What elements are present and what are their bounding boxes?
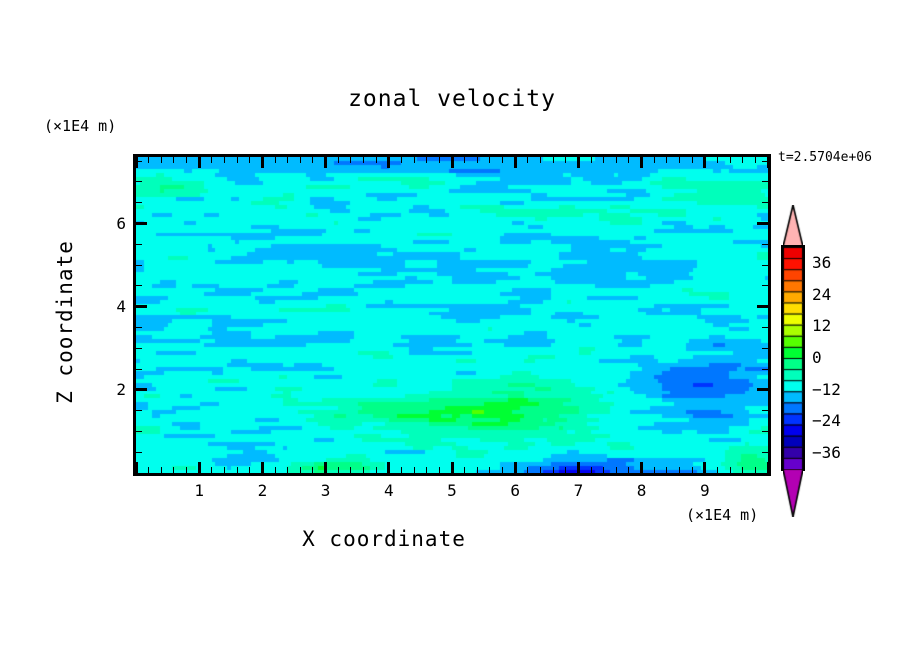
- tick-mark: [477, 157, 478, 163]
- tick-mark: [762, 181, 768, 182]
- tick-mark: [603, 157, 604, 163]
- tick-mark: [136, 452, 142, 453]
- tick-mark: [136, 348, 142, 349]
- tick-mark: [350, 467, 351, 473]
- tick-mark: [762, 202, 768, 203]
- tick-mark: [275, 157, 276, 163]
- tick-mark: [767, 157, 770, 168]
- tick-mark: [502, 157, 503, 163]
- tick-mark: [136, 222, 147, 225]
- tick-mark: [527, 467, 528, 473]
- tick-mark: [148, 467, 149, 473]
- tick-mark: [224, 467, 225, 473]
- tick-mark: [762, 452, 768, 453]
- colorbar-tick-label: −24: [812, 411, 841, 430]
- x-tick-label: 1: [187, 481, 211, 500]
- tick-mark: [136, 265, 142, 266]
- tick-mark: [211, 157, 212, 163]
- colorbar-under-arrow: [783, 469, 803, 517]
- tick-mark: [757, 222, 768, 225]
- y-tick-label: 4: [102, 297, 126, 316]
- tick-mark: [161, 467, 162, 473]
- tick-mark: [717, 157, 718, 163]
- tick-mark: [767, 462, 770, 473]
- contour-figure: zonal velocity (×1E4 m) (×1E4 m) t=2.570…: [0, 0, 904, 654]
- tick-mark: [762, 348, 768, 349]
- tick-mark: [757, 305, 768, 308]
- tick-mark: [616, 467, 617, 473]
- tick-mark: [387, 462, 390, 473]
- x-tick-label: 3: [314, 481, 338, 500]
- tick-mark: [312, 157, 313, 163]
- tick-mark: [640, 462, 643, 473]
- tick-mark: [514, 462, 517, 473]
- tick-mark: [692, 467, 693, 473]
- tick-mark: [439, 157, 440, 163]
- tick-mark: [401, 157, 402, 163]
- colorbar-tick-label: −36: [812, 443, 841, 462]
- tick-mark: [666, 157, 667, 163]
- time-annotation: t=2.5704e+06: [778, 150, 872, 165]
- tick-mark: [173, 157, 174, 163]
- x-tick-label: 9: [693, 481, 717, 500]
- tick-mark: [136, 244, 142, 245]
- tick-mark: [363, 467, 364, 473]
- tick-mark: [376, 157, 377, 163]
- tick-mark: [136, 431, 142, 432]
- tick-mark: [762, 410, 768, 411]
- x-tick-label: 8: [630, 481, 654, 500]
- y-axis-unit-label: (×1E4 m): [44, 117, 116, 135]
- x-axis-title: X coordinate: [0, 527, 768, 551]
- tick-mark: [376, 467, 377, 473]
- tick-mark: [762, 327, 768, 328]
- tick-mark: [135, 157, 138, 168]
- tick-mark: [640, 157, 643, 168]
- tick-mark: [742, 157, 743, 163]
- tick-mark: [703, 157, 706, 168]
- tick-mark: [224, 157, 225, 163]
- tick-mark: [198, 157, 201, 168]
- tick-mark: [350, 157, 351, 163]
- tick-mark: [692, 157, 693, 163]
- tick-mark: [717, 467, 718, 473]
- tick-mark: [136, 369, 142, 370]
- tick-mark: [603, 467, 604, 473]
- tick-mark: [489, 467, 490, 473]
- tick-mark: [654, 157, 655, 163]
- tick-mark: [666, 467, 667, 473]
- tick-mark: [387, 157, 390, 168]
- tick-mark: [275, 467, 276, 473]
- tick-mark: [628, 157, 629, 163]
- x-tick-label: 5: [440, 481, 464, 500]
- tick-mark: [762, 265, 768, 266]
- tick-mark: [426, 467, 427, 473]
- tick-mark: [451, 462, 454, 473]
- colorbar: [783, 247, 803, 469]
- colorbar-tick-label: 12: [812, 316, 831, 335]
- x-tick-label: 7: [566, 481, 590, 500]
- colorbar-tick-label: 24: [812, 285, 831, 304]
- tick-mark: [173, 467, 174, 473]
- tick-mark: [401, 467, 402, 473]
- tick-mark: [439, 467, 440, 473]
- tick-mark: [324, 157, 327, 168]
- tick-mark: [730, 157, 731, 163]
- tick-mark: [198, 462, 201, 473]
- tick-mark: [730, 467, 731, 473]
- tick-mark: [755, 157, 756, 163]
- tick-mark: [757, 388, 768, 391]
- tick-mark: [489, 157, 490, 163]
- tick-mark: [300, 157, 301, 163]
- tick-mark: [477, 467, 478, 473]
- tick-mark: [553, 157, 554, 163]
- tick-mark: [628, 467, 629, 473]
- tick-mark: [755, 467, 756, 473]
- tick-mark: [426, 157, 427, 163]
- x-axis-unit-label: (×1E4 m): [686, 506, 758, 524]
- colorbar-over-arrow: [783, 205, 803, 247]
- tick-mark: [136, 285, 142, 286]
- tick-mark: [324, 462, 327, 473]
- contour-field: [136, 157, 768, 473]
- tick-mark: [148, 157, 149, 163]
- tick-mark: [414, 157, 415, 163]
- tick-mark: [136, 181, 142, 182]
- tick-mark: [540, 157, 541, 163]
- tick-mark: [312, 467, 313, 473]
- page-title: zonal velocity: [0, 86, 904, 112]
- tick-mark: [363, 157, 364, 163]
- tick-mark: [502, 467, 503, 473]
- tick-mark: [464, 157, 465, 163]
- tick-mark: [338, 157, 339, 163]
- tick-mark: [338, 467, 339, 473]
- tick-mark: [261, 157, 264, 168]
- y-tick-label: 6: [102, 214, 126, 233]
- tick-mark: [161, 157, 162, 163]
- colorbar-tick-label: 36: [812, 253, 831, 272]
- tick-mark: [136, 410, 142, 411]
- tick-mark: [577, 157, 580, 168]
- tick-mark: [136, 327, 142, 328]
- tick-mark: [762, 244, 768, 245]
- tick-mark: [679, 157, 680, 163]
- tick-mark: [237, 467, 238, 473]
- tick-mark: [237, 157, 238, 163]
- tick-mark: [565, 157, 566, 163]
- tick-mark: [527, 157, 528, 163]
- tick-mark: [762, 161, 768, 162]
- tick-mark: [762, 431, 768, 432]
- tick-mark: [261, 462, 264, 473]
- tick-mark: [762, 473, 768, 474]
- tick-mark: [591, 467, 592, 473]
- x-tick-label: 2: [250, 481, 274, 500]
- tick-mark: [249, 467, 250, 473]
- tick-mark: [300, 467, 301, 473]
- tick-mark: [591, 157, 592, 163]
- tick-mark: [136, 388, 147, 391]
- tick-mark: [287, 157, 288, 163]
- tick-mark: [186, 157, 187, 163]
- tick-mark: [451, 157, 454, 168]
- colorbar-tick-label: −12: [812, 380, 841, 399]
- x-tick-label: 6: [503, 481, 527, 500]
- tick-mark: [135, 462, 138, 473]
- y-tick-label: 2: [102, 380, 126, 399]
- tick-mark: [679, 467, 680, 473]
- tick-mark: [211, 467, 212, 473]
- tick-mark: [136, 161, 142, 162]
- tick-mark: [136, 473, 142, 474]
- tick-mark: [136, 305, 147, 308]
- tick-mark: [616, 157, 617, 163]
- tick-mark: [654, 467, 655, 473]
- tick-mark: [186, 467, 187, 473]
- tick-mark: [762, 369, 768, 370]
- tick-mark: [742, 467, 743, 473]
- tick-mark: [577, 462, 580, 473]
- x-tick-label: 4: [377, 481, 401, 500]
- tick-mark: [249, 157, 250, 163]
- tick-mark: [464, 467, 465, 473]
- tick-mark: [287, 467, 288, 473]
- colorbar-tick-label: 0: [812, 348, 822, 367]
- tick-mark: [762, 285, 768, 286]
- tick-mark: [553, 467, 554, 473]
- tick-mark: [136, 202, 142, 203]
- tick-mark: [703, 462, 706, 473]
- tick-mark: [565, 467, 566, 473]
- tick-mark: [514, 157, 517, 168]
- y-axis-title: Z coordinate: [53, 192, 77, 452]
- tick-mark: [414, 467, 415, 473]
- tick-mark: [540, 467, 541, 473]
